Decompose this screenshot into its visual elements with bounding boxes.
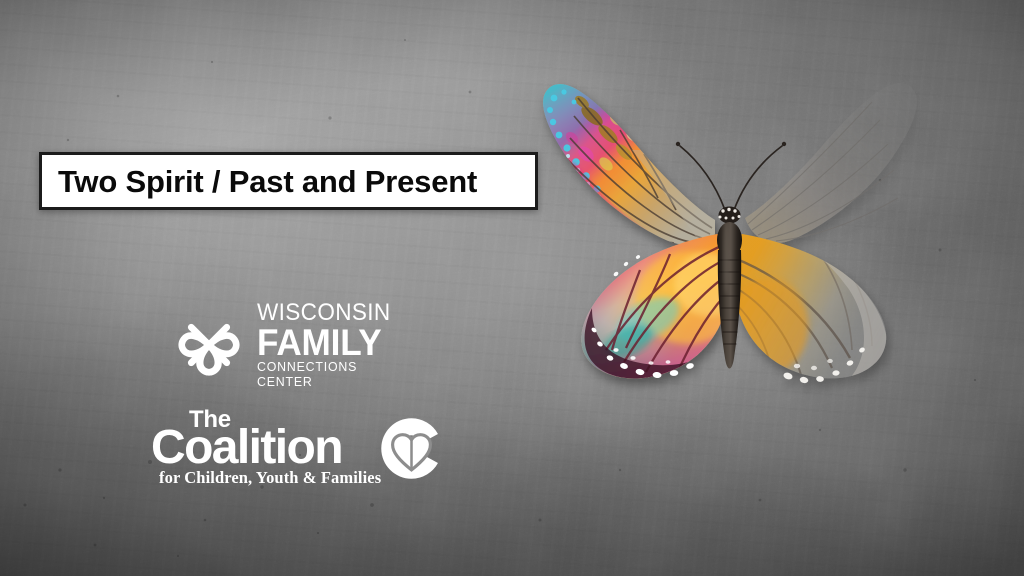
celtic-knot-icon xyxy=(172,308,246,382)
butterfly-illustration xyxy=(520,58,920,403)
presentation-slide: Two Spirit / Past and Present WISCONSIN … xyxy=(0,0,1024,576)
wfcc-wordmark: WISCONSIN FAMILY CONNECTIONS CENTER xyxy=(257,300,402,390)
wfcc-line-connections-center: CONNECTIONS CENTER xyxy=(257,360,395,390)
logo-the-coalition: The Coalition for Children, Youth & Fami… xyxy=(155,408,455,490)
page-title: Two Spirit / Past and Present xyxy=(58,166,477,197)
coalition-tagline: for Children, Youth & Families xyxy=(159,470,381,487)
title-plate: Two Spirit / Past and Present xyxy=(39,152,538,210)
logo-wisconsin-family-connections-center: WISCONSIN FAMILY CONNECTIONS CENTER xyxy=(172,303,402,387)
abdomen xyxy=(718,250,741,369)
butterfly-right-wings xyxy=(728,83,917,384)
antennae xyxy=(680,146,782,210)
right-forewing xyxy=(745,83,917,243)
c-heart-icon xyxy=(380,417,443,480)
wfcc-line-family: FAMILY xyxy=(257,325,395,361)
coalition-line-coalition: Coalition xyxy=(151,424,342,472)
